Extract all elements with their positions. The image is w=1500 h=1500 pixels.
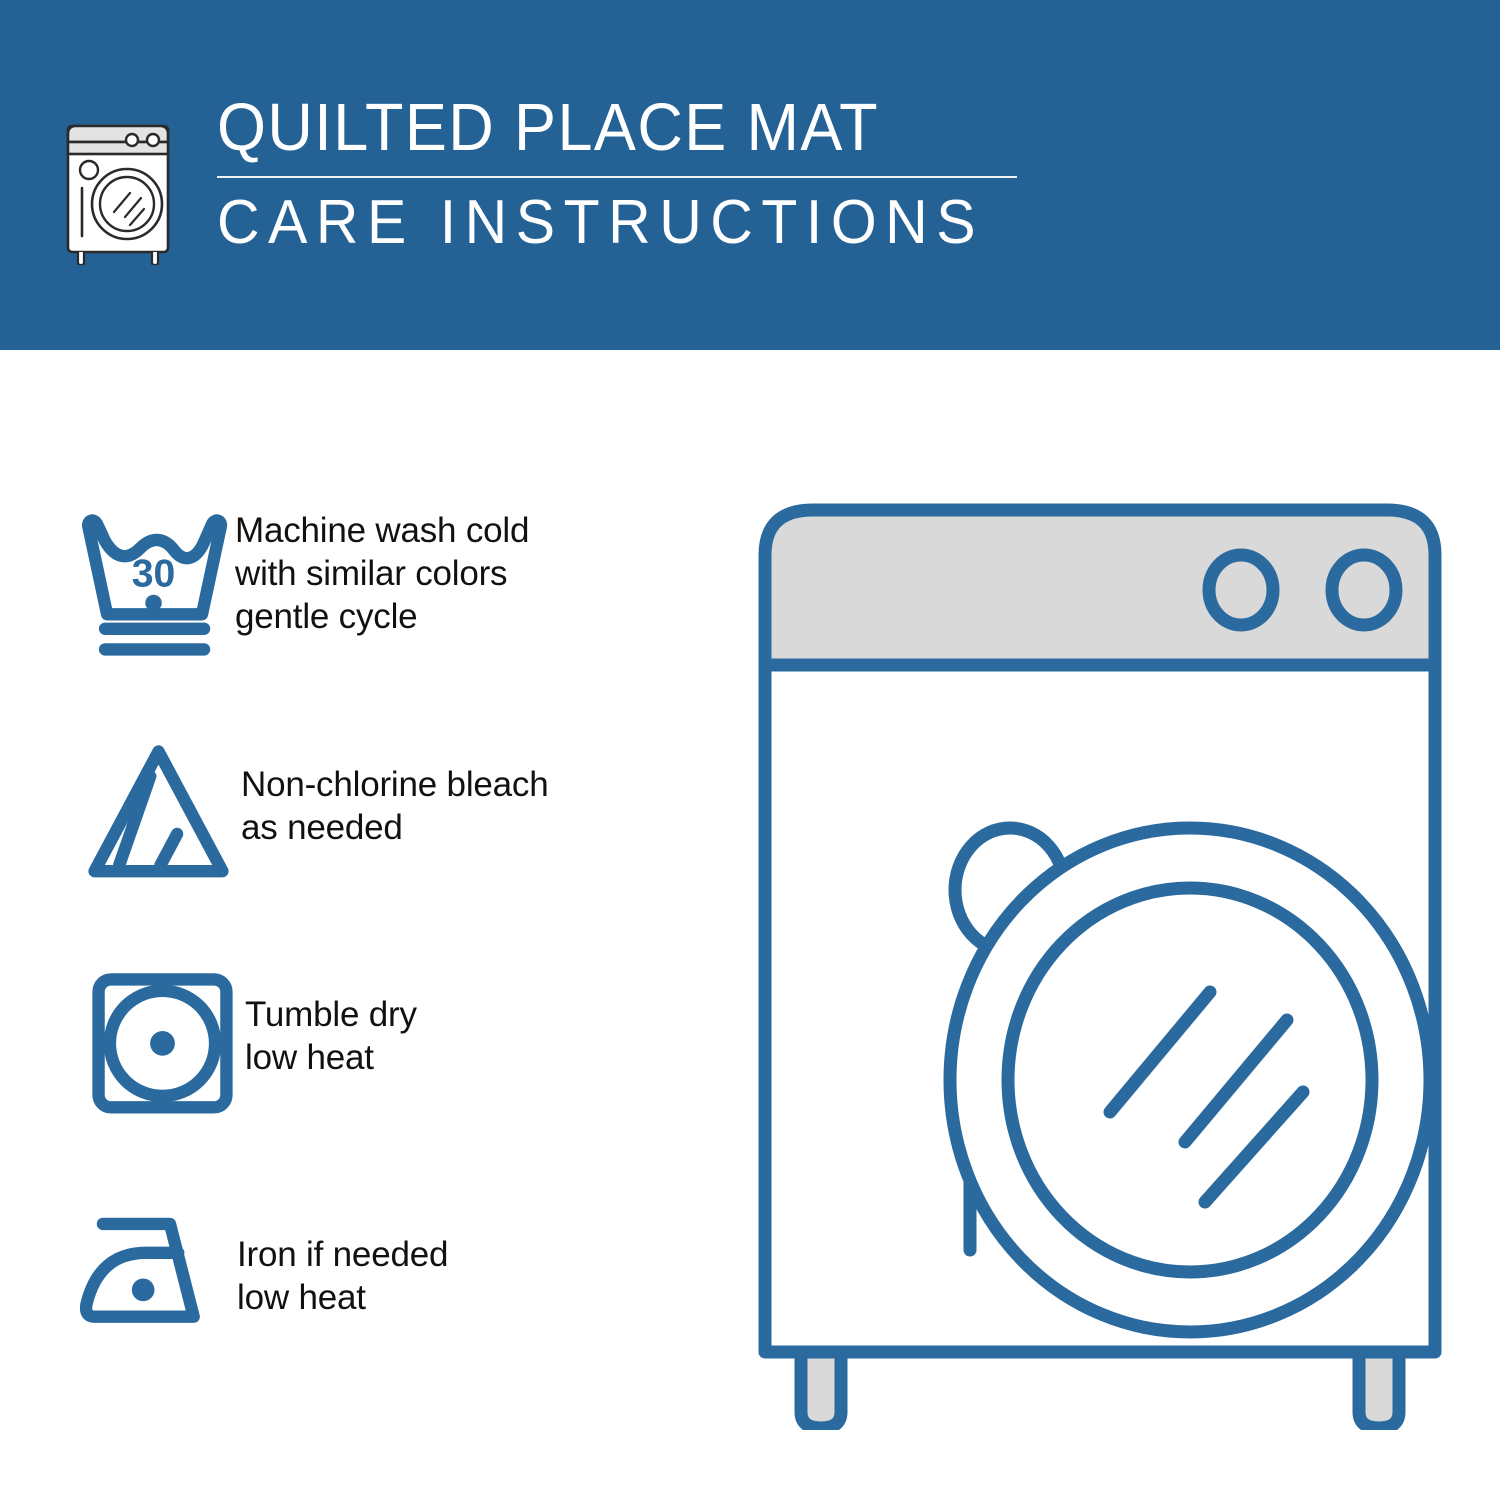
dry-heat-dot-icon	[150, 1031, 175, 1056]
care-line: Iron if needed	[237, 1233, 690, 1276]
care-instruction-list: 30 Machine wash cold with similar colors…	[70, 505, 690, 1425]
care-line: Non-chlorine bleach	[241, 763, 690, 806]
care-instruction-item: Non-chlorine bleach as needed	[70, 735, 690, 965]
control-knob-2	[1332, 555, 1396, 625]
care-line: as needed	[241, 806, 690, 849]
care-line: Machine wash cold	[235, 509, 690, 552]
machine-leg-left	[801, 1352, 841, 1428]
care-instruction-text: Iron if needed low heat	[237, 1195, 690, 1319]
care-instruction-text: Machine wash cold with similar colors ge…	[235, 505, 690, 638]
care-line: low heat	[245, 1036, 690, 1079]
iron-icon	[70, 1195, 237, 1355]
wash-dot-icon	[145, 595, 162, 612]
care-instruction-item: Iron if needed low heat	[70, 1195, 690, 1425]
care-instruction-item: Tumble dry low heat	[70, 965, 690, 1195]
header-content: QUILTED PLACE MAT CARE INSTRUCTIONS	[60, 92, 1027, 265]
content-area: 30 Machine wash cold with similar colors…	[0, 350, 1500, 1500]
care-instruction-item: 30 Machine wash cold with similar colors…	[70, 505, 690, 735]
header-banner: QUILTED PLACE MAT CARE INSTRUCTIONS	[0, 0, 1500, 350]
header-title-block: QUILTED PLACE MAT CARE INSTRUCTIONS	[217, 92, 1027, 258]
machine-door-inner	[1008, 888, 1372, 1272]
washing-machine-icon	[60, 100, 185, 265]
page-subtitle: CARE INSTRUCTIONS	[217, 188, 987, 258]
machine-leg-right	[1359, 1352, 1399, 1428]
page-title: QUILTED PLACE MAT	[217, 92, 978, 164]
care-line: low heat	[237, 1276, 690, 1319]
care-line: gentle cycle	[235, 595, 690, 638]
care-line: with similar colors	[235, 552, 690, 595]
wash-temperature-label: 30	[132, 552, 176, 595]
front-load-washing-machine-illustration	[735, 480, 1465, 1430]
title-divider	[217, 176, 1017, 178]
control-knob-1	[1209, 555, 1273, 625]
iron-heat-dot-icon	[132, 1279, 155, 1302]
machine-wash-tub-icon: 30	[70, 505, 235, 665]
non-chlorine-bleach-triangle-icon	[70, 735, 241, 895]
tumble-dry-icon	[70, 965, 245, 1125]
care-line: Tumble dry	[245, 993, 690, 1036]
care-instruction-text: Tumble dry low heat	[245, 965, 690, 1079]
care-instruction-text: Non-chlorine bleach as needed	[241, 735, 690, 849]
